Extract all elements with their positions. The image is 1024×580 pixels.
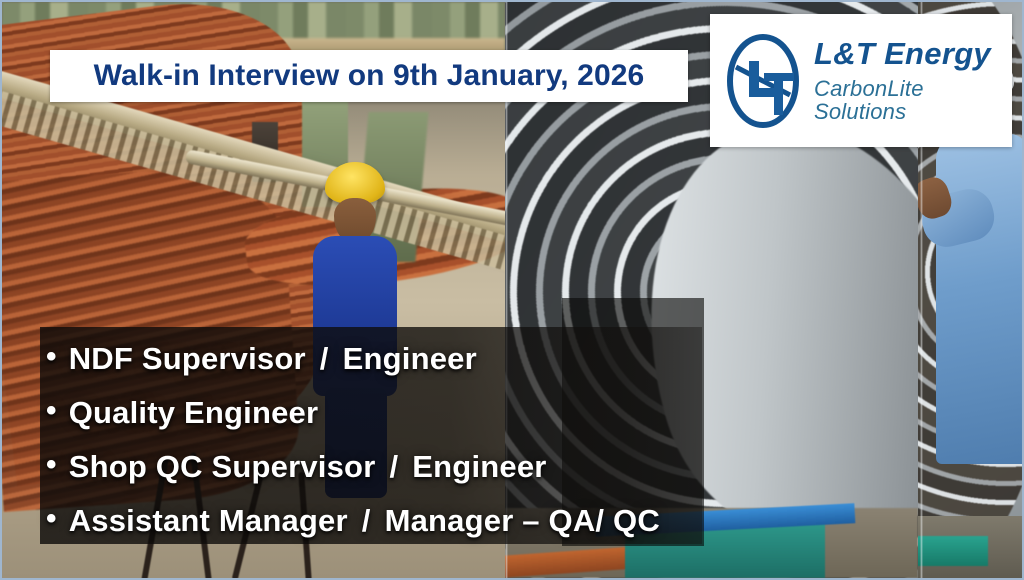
- logo-company-name: L&T Energy: [814, 38, 1002, 71]
- list-item: • Assistant Manager / Manager – QA/ QC: [46, 494, 726, 548]
- page-title: Walk-in Interview on 9th January, 2026: [94, 59, 645, 93]
- bullet-icon: •: [46, 396, 57, 426]
- job-alt-role: Engineer: [412, 449, 546, 485]
- list-item: • Shop QC Supervisor / Engineer: [46, 440, 726, 494]
- logo-division-name: CarbonLite Solutions: [814, 77, 1002, 123]
- bullet-icon: •: [46, 342, 57, 372]
- job-role: Shop QC Supervisor: [69, 449, 376, 485]
- job-separator: /: [360, 503, 373, 539]
- recruitment-poster: • NDF Supervisor / Engineer • Quality En…: [0, 0, 1024, 580]
- bullet-icon: •: [46, 504, 57, 534]
- job-separator: /: [387, 449, 400, 485]
- list-item: • NDF Supervisor / Engineer: [46, 332, 726, 386]
- job-separator: /: [318, 341, 331, 377]
- job-list: • NDF Supervisor / Engineer • Quality En…: [46, 332, 726, 548]
- job-alt-role: Engineer: [343, 341, 477, 377]
- headline-banner: Walk-in Interview on 9th January, 2026: [50, 50, 688, 102]
- logo-card: L&T Energy CarbonLite Solutions: [710, 14, 1012, 147]
- job-role: Assistant Manager: [69, 503, 348, 539]
- list-item: • Quality Engineer: [46, 386, 726, 440]
- lt-monogram-icon: [724, 33, 802, 129]
- bullet-icon: •: [46, 450, 57, 480]
- job-alt-role: Manager – QA/ QC: [385, 503, 660, 539]
- job-role: Quality Engineer: [69, 395, 319, 431]
- job-role: NDF Supervisor: [69, 341, 306, 377]
